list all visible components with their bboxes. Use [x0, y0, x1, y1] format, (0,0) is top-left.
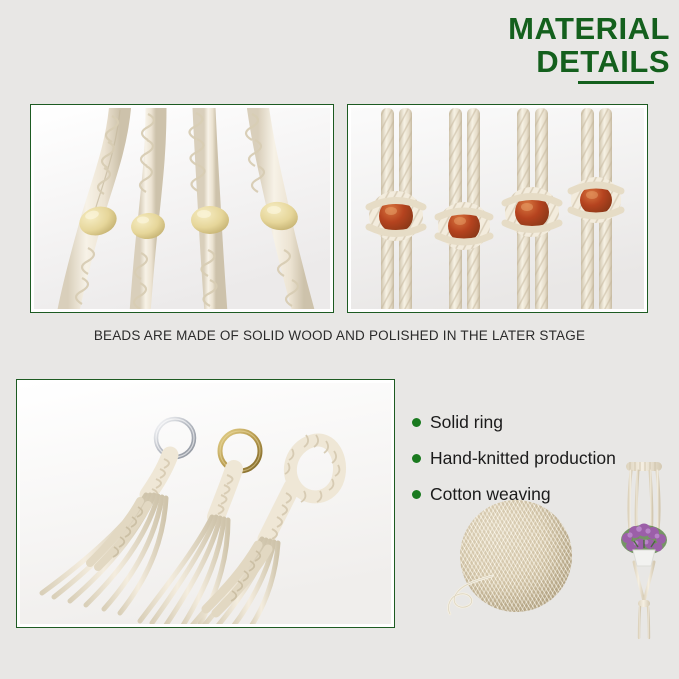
- material-details-page: MATERIAL DETAILS: [0, 0, 679, 679]
- photo-rings-art: [20, 383, 391, 624]
- feature-label: Hand-knitted production: [430, 448, 616, 469]
- bullet-icon: [412, 490, 421, 499]
- photo-rings: [16, 379, 395, 628]
- photo-beads-light-art: [34, 108, 330, 309]
- title-underline: [578, 81, 654, 84]
- feature-label: Solid ring: [430, 412, 503, 433]
- title-line-2: DETAILS: [430, 45, 670, 78]
- photo-beads-dark-art: [351, 108, 644, 309]
- title-line-1: MATERIAL: [430, 12, 670, 45]
- beads-caption: BEADS ARE MADE OF SOLID WOOD AND POLISHE…: [0, 328, 679, 343]
- plant-hanger-image: [618, 452, 670, 642]
- photo-rings-mat: [20, 383, 391, 624]
- yarn-loose-strand: [444, 570, 496, 620]
- photo-beads-light: [30, 104, 334, 313]
- photo-beads-light-mat: [34, 108, 330, 309]
- bullet-icon: [412, 454, 421, 463]
- bullet-icon: [412, 418, 421, 427]
- photo-beads-dark: [347, 104, 648, 313]
- page-title: MATERIAL DETAILS: [430, 12, 670, 84]
- list-item: Solid ring: [412, 404, 662, 440]
- yarn-ball-image: [444, 498, 574, 628]
- plant-hanger-art: [618, 452, 670, 642]
- photo-beads-dark-mat: [351, 108, 644, 309]
